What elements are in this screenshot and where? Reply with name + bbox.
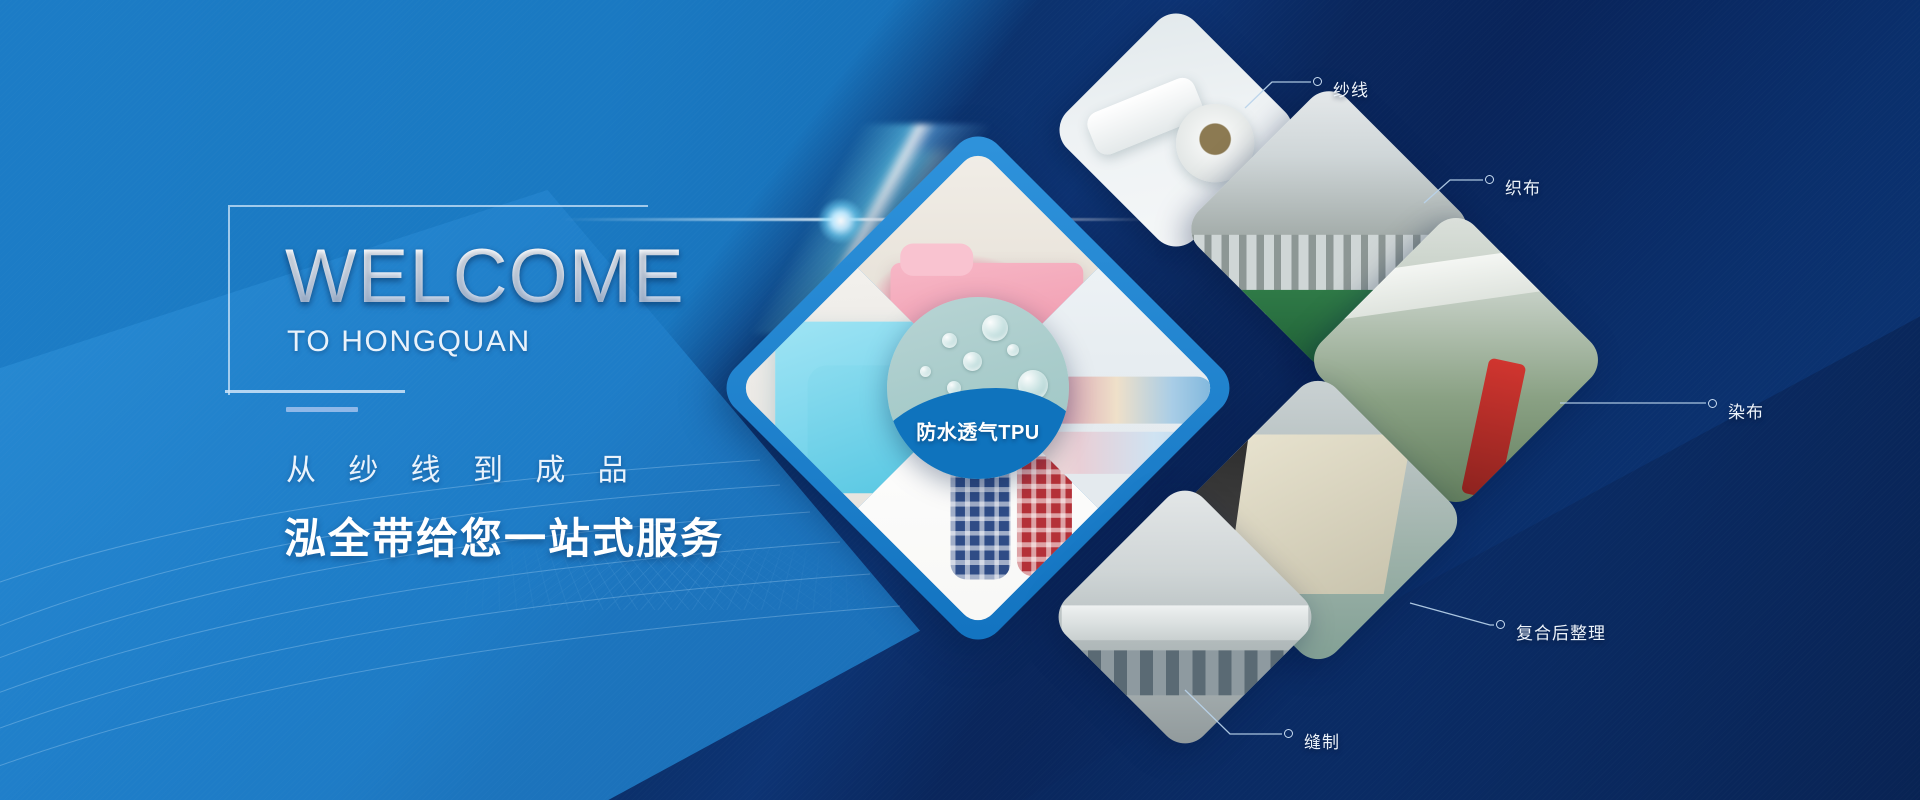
callout-dot-sewing bbox=[1284, 729, 1293, 738]
callout-dot-dyeing bbox=[1708, 399, 1717, 408]
tagline-chinese: 从 纱 线 到 成 品 bbox=[286, 445, 640, 489]
bottom-divider-rule bbox=[225, 390, 405, 393]
callout-dot-weaving bbox=[1485, 175, 1494, 184]
callout-label-laminating: 复合后整理 bbox=[1516, 619, 1606, 644]
accent-rule bbox=[286, 407, 358, 412]
hero-banner: WELCOME TO HONGQUAN 从 纱 线 到 成 品 泓全带给您一站式… bbox=[0, 0, 1920, 800]
headline-chinese: 泓全带给您一站式服务 bbox=[284, 505, 724, 566]
page-title: WELCOME bbox=[285, 240, 685, 314]
badge-label: 防水透气TPU bbox=[887, 416, 1069, 445]
callout-label-weaving: 织布 bbox=[1505, 174, 1541, 199]
tpu-feature-badge: 防水透气TPU bbox=[887, 297, 1069, 479]
callout-label-yarn: 纱线 bbox=[1333, 76, 1369, 101]
callout-dot-laminating bbox=[1496, 620, 1505, 629]
callout-dot-yarn bbox=[1313, 77, 1322, 86]
callout-label-sewing: 缝制 bbox=[1304, 728, 1340, 753]
page-subtitle: TO HONGQUAN bbox=[287, 325, 531, 359]
callout-label-dyeing: 染布 bbox=[1728, 398, 1764, 423]
